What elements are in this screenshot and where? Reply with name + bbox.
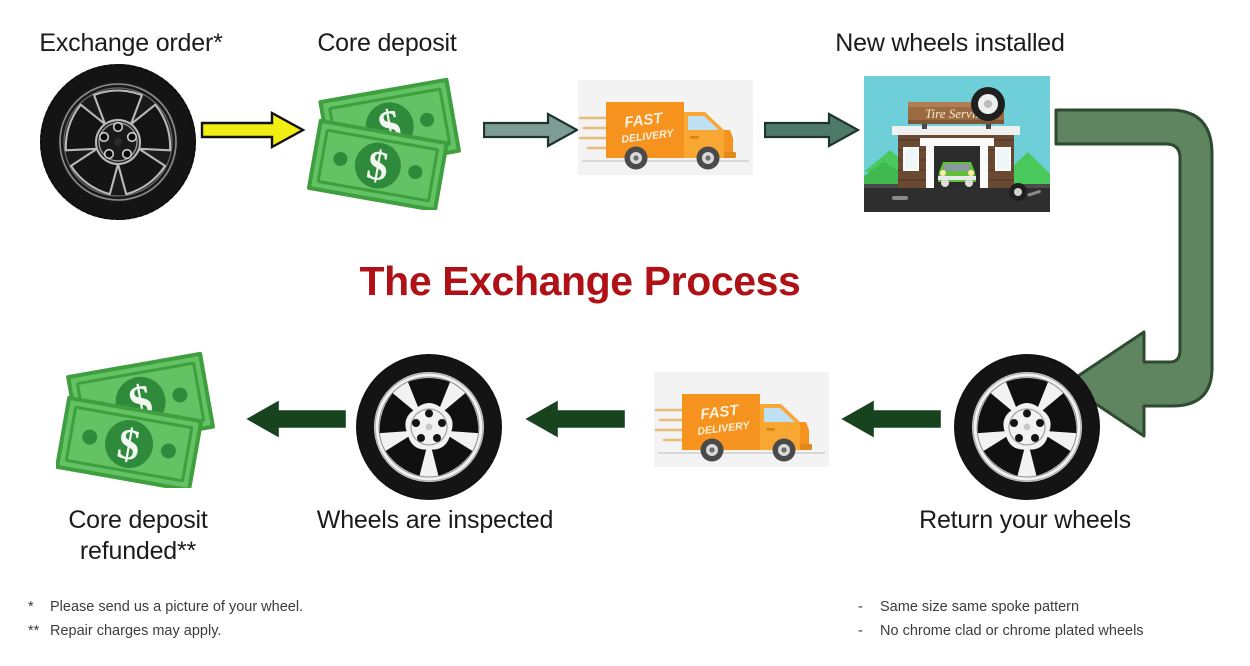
wheel-dark-icon (38, 62, 198, 222)
note-right-1-text: Same size same spoke pattern (880, 599, 1079, 615)
money-icon-refund: $ $ (56, 348, 236, 488)
label-core-deposit: Core deposit (276, 28, 498, 59)
arrow-inspect-to-refund (246, 400, 346, 438)
note-left-1: *Please send us a picture of your wheel. (28, 595, 303, 619)
label-new-wheels-installed: New wheels installed (800, 28, 1100, 59)
note-marker-dash-2: - (858, 619, 880, 643)
label-core-deposit-refunded-line1: Core deposit (68, 506, 207, 534)
arrow-deposit-to-truck (483, 112, 579, 148)
arrow-truck-to-shop (764, 112, 860, 148)
note-marker-asterisk: * (28, 595, 50, 619)
note-marker-dash-1: - (858, 595, 880, 619)
tire-service-shop-icon: Tire Service (864, 76, 1050, 212)
exchange-process-diagram: Exchange order* Core deposit New wheels … (0, 0, 1250, 666)
note-left-1-text: Please send us a picture of your wheel. (50, 599, 303, 615)
note-right-2: -No chrome clad or chrome plated wheels (858, 619, 1144, 643)
label-exchange-order: Exchange order* (8, 28, 254, 59)
money-icon: $ $ (306, 70, 478, 210)
wheel-silver-icon-inspected (354, 352, 504, 502)
note-left-2: **Repair charges may apply. (28, 619, 303, 643)
note-marker-double-asterisk: ** (28, 619, 50, 643)
note-left-2-text: Repair charges may apply. (50, 623, 221, 639)
page-title: The Exchange Process (0, 258, 1160, 305)
notes-left: *Please send us a picture of your wheel.… (28, 595, 303, 643)
delivery-truck-icon-return: FAST DELIVERY (654, 372, 829, 467)
notes-right: -Same size same spoke pattern -No chrome… (858, 595, 1144, 643)
arrow-order-to-deposit (200, 110, 306, 150)
wheel-silver-icon-return (952, 352, 1102, 502)
delivery-truck-icon: FAST DELIVERY (578, 80, 753, 175)
note-right-1: -Same size same spoke pattern (858, 595, 1144, 619)
label-wheels-inspected: Wheels are inspected (300, 505, 570, 536)
arrow-return-to-truck (841, 400, 941, 438)
label-return-your-wheels: Return your wheels (890, 505, 1160, 536)
arrow-truck-to-inspect (525, 400, 625, 438)
note-right-2-text: No chrome clad or chrome plated wheels (880, 623, 1144, 639)
label-core-deposit-refunded-line2: refunded** (80, 537, 196, 565)
